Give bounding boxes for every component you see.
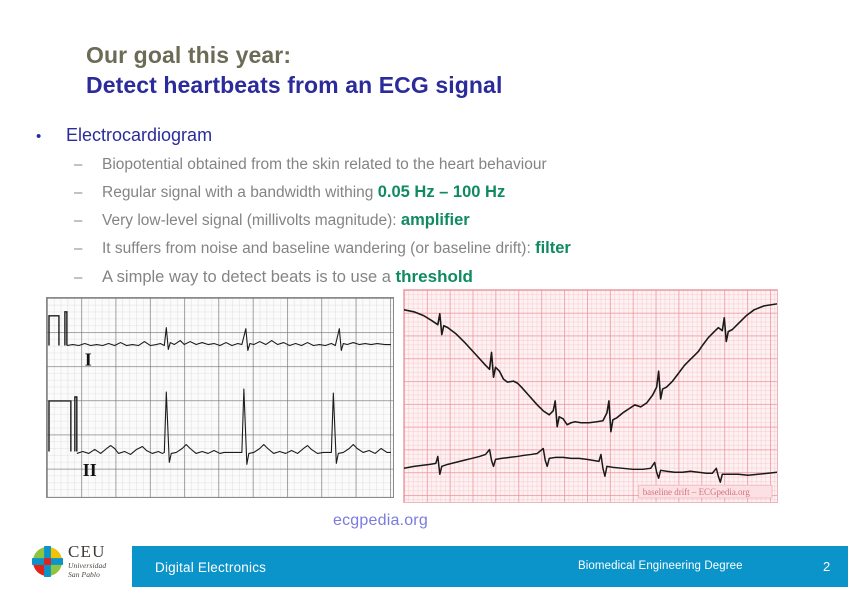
sub-bullet-4: – It suffers from noise and baseline wan…	[30, 235, 820, 262]
slide-page-number: 2	[823, 559, 830, 574]
sub-bullet-1-text: Biopotential obtained from the skin rela…	[102, 151, 547, 178]
dash-marker-icon: –	[30, 264, 102, 291]
sub-bullet-4-highlight: filter	[535, 239, 571, 257]
ceu-logo-mark-icon	[32, 546, 63, 577]
sub-bullet-4-text: It suffers from noise and baseline wande…	[102, 235, 571, 262]
ceu-logo-title: CEU	[68, 543, 128, 561]
sub-bullet-5: – A simple way to detect beats is to use…	[30, 263, 820, 291]
dash-marker-icon: –	[30, 236, 102, 262]
slide-title: Our goal this year: Detect heartbeats fr…	[86, 40, 786, 101]
slide-body: • Electrocardiogram – Biopotential obtai…	[30, 122, 820, 291]
lead-label-II: II	[83, 460, 97, 480]
sub-bullet-2-text: Regular signal with a bandwidth withing …	[102, 179, 505, 206]
ceu-logo-subtitle-2: San Pablo	[68, 570, 128, 579]
title-line-2: Detect heartbeats from an ECG signal	[86, 70, 786, 101]
sub-bullet-2: – Regular signal with a bandwidth within…	[30, 179, 820, 206]
sub-bullet-3-text: Very low-level signal (millivolts magnit…	[102, 207, 470, 234]
footer-course-label: Digital Electronics	[155, 560, 266, 575]
ceu-logo: CEU Universidad San Pablo	[32, 543, 128, 587]
sub-bullet-3: – Very low-level signal (millivolts magn…	[30, 207, 820, 234]
sub-bullet-3-highlight: amplifier	[401, 211, 470, 229]
ecg-drift-svg: baseline drift – ECGpedia.org	[404, 290, 777, 502]
ecg-strip-baseline-drift-image: baseline drift – ECGpedia.org	[403, 289, 778, 503]
footer-degree-label: Biomedical Engineering Degree	[578, 560, 743, 572]
sub-bullet-5-highlight: threshold	[396, 267, 473, 286]
ecg-strip-grayscale-image: I II	[46, 297, 394, 498]
figure-caption: baseline drift – ECGpedia.org	[643, 487, 751, 497]
sub-bullet-2-highlight: 0.05 Hz – 100 Hz	[378, 183, 506, 201]
lead-label-I: I	[85, 349, 92, 369]
ceu-logo-subtitle-1: Universidad	[68, 561, 128, 570]
sub-bullet-5-text: A simple way to detect beats is to use a…	[102, 263, 473, 291]
dash-marker-icon: –	[30, 152, 102, 178]
bullet-marker-icon: •	[30, 123, 66, 150]
bullet-electrocardiogram: • Electrocardiogram	[30, 122, 820, 150]
dash-marker-icon: –	[30, 208, 102, 234]
sub-bullet-1: – Biopotential obtained from the skin re…	[30, 151, 820, 178]
ecgpedia-source-link[interactable]: ecgpedia.org	[333, 512, 428, 530]
dash-marker-icon: –	[30, 180, 102, 206]
title-line-1: Our goal this year:	[86, 40, 786, 70]
bullet-label: Electrocardiogram	[66, 122, 212, 149]
ecg-grayscale-svg: I II	[47, 298, 393, 497]
ceu-logo-text: CEU Universidad San Pablo	[68, 543, 128, 579]
